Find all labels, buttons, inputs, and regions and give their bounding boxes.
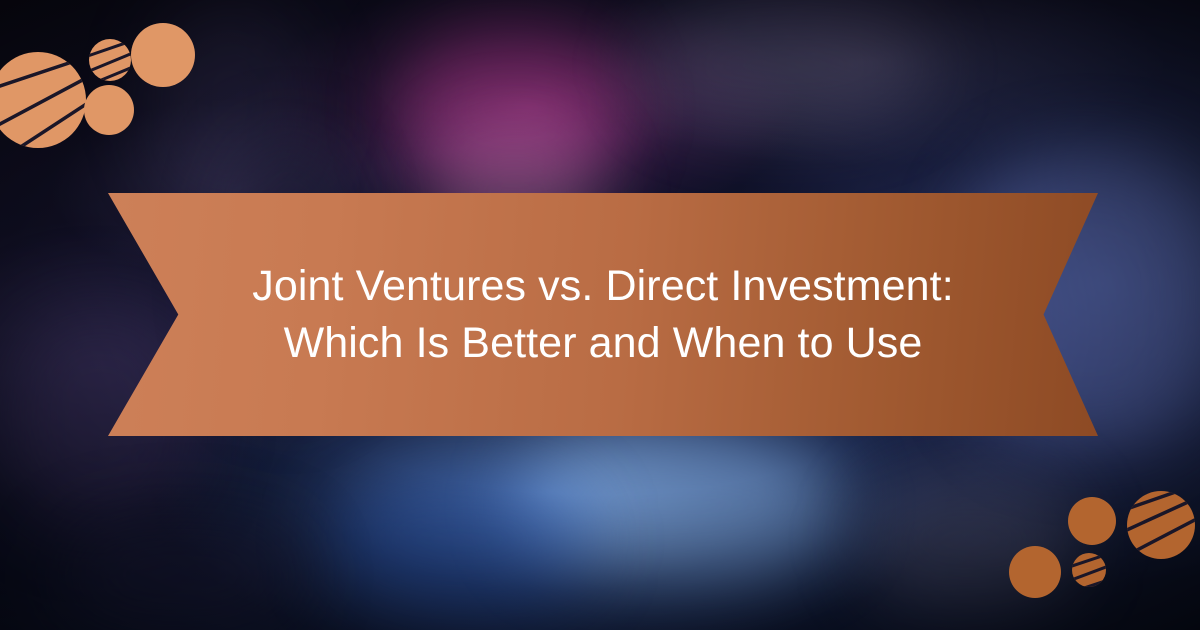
circle-cluster-top-left	[0, 0, 230, 175]
decorative-circle-plain	[1068, 497, 1116, 545]
page-title-line-1: Joint Ventures vs. Direct Investment:	[223, 258, 983, 315]
decorative-circle-plain	[84, 85, 134, 135]
decorative-circle-plain	[1009, 546, 1061, 598]
decorative-circle-striped	[89, 39, 131, 81]
title-banner: Joint Ventures vs. Direct Investment: Wh…	[108, 193, 1098, 436]
page-title-line-2: Which Is Better and When to Use	[223, 315, 983, 372]
decorative-circle-plain	[131, 23, 195, 87]
banner-text-block: Joint Ventures vs. Direct Investment: Wh…	[223, 258, 983, 372]
circle-cluster-bottom-right	[990, 460, 1200, 630]
social-card-canvas: Joint Ventures vs. Direct Investment: Wh…	[0, 0, 1200, 630]
